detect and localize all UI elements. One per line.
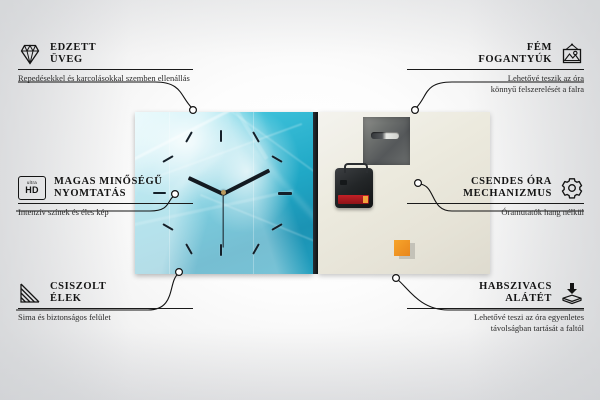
feature-description-line1: Óramutatók hang nélkül [407, 207, 584, 218]
feature-description-line1: Lehetővé teszi az óra egyenletes [407, 312, 584, 323]
second-hand [222, 194, 223, 248]
feature-title-line1: MAGAS MINŐSÉGŰ [54, 176, 162, 188]
infographic-canvas: EDZETT ÜVEG Repedésekkel és karcolásokka… [0, 0, 600, 400]
feature-header: CSENDES ÓRA MECHANIZMUS [407, 176, 584, 200]
polished-edge-icon [18, 281, 42, 305]
feature-edzett-uveg: EDZETT ÜVEG Repedésekkel és karcolásokka… [18, 42, 193, 84]
feature-title-line2: FOGANTYÚK [478, 54, 552, 66]
feature-title-line1: CSISZOLT [50, 281, 106, 293]
feature-header: ultra HD MAGAS MINŐSÉGŰ NYOMTATÁS [18, 176, 193, 200]
feature-title-line2: ALÁTÉT [479, 293, 552, 305]
feature-description: Sima és biztonságos felület [18, 312, 193, 323]
feature-description: Repedésekkel és karcolásokkal szemben el… [18, 73, 193, 84]
feature-csiszolt-elek: CSISZOLT ÉLEK Sima és biztonságos felüle… [18, 281, 193, 323]
gear-icon [560, 176, 584, 200]
feature-csendes-ora-mechanizmus: CSENDES ÓRA MECHANIZMUS Óramutatók hang … [407, 176, 584, 218]
feature-description-line1: Lehetővé teszik az óra [407, 73, 584, 84]
foam-pad-press-icon [560, 281, 584, 305]
feature-habszivacs-alatet: HABSZIVACS ALÁTÉT Lehetővé teszi az óra … [407, 281, 584, 334]
clock-movement [335, 168, 373, 208]
foam-spacer-pad [394, 240, 410, 256]
feature-header: CSISZOLT ÉLEK [18, 281, 193, 305]
ultra-hd-icon: ultra HD [18, 176, 46, 200]
divider [18, 69, 193, 70]
feature-title-line2: ÜVEG [50, 54, 96, 66]
divider [407, 308, 584, 309]
hour-mark [185, 243, 193, 254]
feature-title-line1: FÉM [478, 42, 552, 54]
feature-title-line1: HABSZIVACS [479, 281, 552, 293]
diamond-icon [18, 42, 42, 66]
divider [407, 203, 584, 204]
hanger-slot [371, 132, 399, 139]
battery [338, 195, 369, 204]
feature-title-line2: MECHANIZMUS [463, 188, 552, 200]
wall-mount-frame-icon [560, 42, 584, 66]
divider [18, 308, 193, 309]
movement-hook [344, 163, 368, 173]
feature-header: EDZETT ÜVEG [18, 42, 193, 66]
hour-mark [162, 223, 173, 231]
feature-header: FÉM FOGANTYÚK [407, 42, 584, 66]
feature-description: Intenzív színek és éles kép [18, 207, 193, 218]
feature-header: HABSZIVACS ALÁTÉT [407, 281, 584, 305]
feature-description-line2: távolságban tartását a faltól [407, 323, 584, 334]
feature-title-line2: ÉLEK [50, 293, 106, 305]
feature-title-line1: EDZETT [50, 42, 96, 54]
hour-mark [220, 130, 222, 142]
hour-mark [278, 192, 292, 195]
wire-edzett [18, 82, 192, 108]
divider [407, 69, 584, 70]
divider [18, 203, 193, 204]
feature-magas-minosegu-nyomtatas: ultra HD MAGAS MINŐSÉGŰ NYOMTATÁS Intenz… [18, 176, 193, 218]
hour-mark [162, 155, 173, 163]
movement-detail [340, 180, 347, 185]
feature-fem-fogantyuk: FÉM FOGANTYÚK Lehetővé teszik az óra kön… [407, 42, 584, 95]
feature-title-line1: CSENDES ÓRA [463, 176, 552, 188]
feature-title-line2: NYOMTATÁS [54, 188, 162, 200]
metal-hanger-plate [363, 117, 410, 165]
ultra-hd-large-text: HD [25, 186, 39, 195]
feature-description-line2: könnyű felszerelését a falra [407, 84, 584, 95]
clock-hub [221, 190, 226, 195]
